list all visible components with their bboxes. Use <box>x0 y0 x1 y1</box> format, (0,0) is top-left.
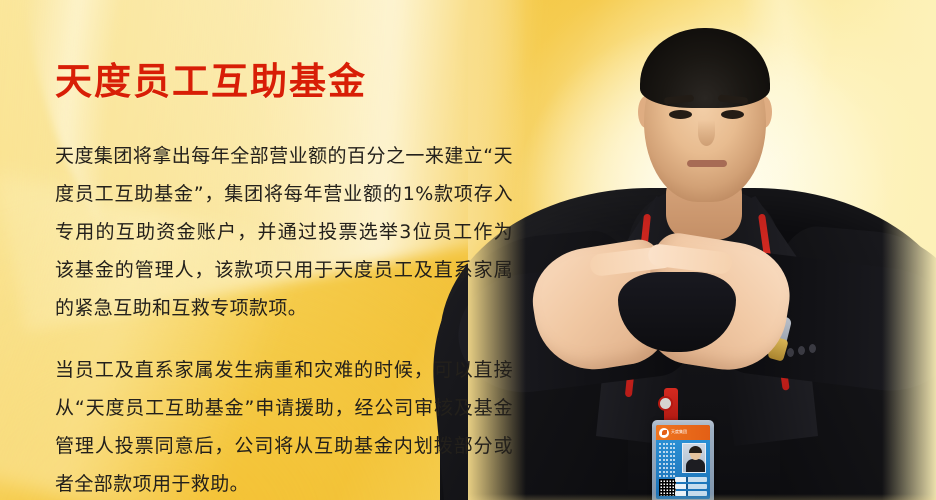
photo-edge-fade-bottom <box>468 494 936 500</box>
id-badge-card: 天度集团 <box>656 425 710 499</box>
lanyard-ring <box>658 396 673 411</box>
eye-left <box>669 110 692 119</box>
mouth <box>687 160 727 167</box>
id-badge-header: 天度集团 <box>656 425 710 440</box>
portrait-hair <box>689 446 702 453</box>
eye-right <box>721 110 744 119</box>
id-badge: 天度集团 <box>652 420 714 500</box>
portrait-body <box>686 459 705 472</box>
banner-copy: 天度员工互助基金 天度集团将拿出每年全部营业额的百分之一来建立“天度员工互助基金… <box>55 62 525 500</box>
id-badge-field-row <box>675 484 707 489</box>
page-title: 天度员工互助基金 <box>55 62 525 103</box>
photo-inner: 天度集团 <box>468 0 936 500</box>
id-badge-field-row <box>675 477 707 482</box>
id-badge-portrait <box>682 443 706 473</box>
nose <box>698 120 715 146</box>
body-paragraph-1: 天度集团将拿出每年全部营业额的百分之一来建立“天度员工互助基金”，集团将每年营业… <box>55 137 513 327</box>
sleeve-buttons-right <box>809 344 816 353</box>
body-paragraph-2: 当员工及直系家属发生病重和灾难的时候，可以直接从“天度员工互助基金”申请援助，经… <box>55 351 513 500</box>
employee-photo: 天度集团 <box>468 0 936 500</box>
promo-banner: 天度集团 <box>0 0 936 500</box>
company-logo-icon <box>659 428 669 438</box>
id-badge-body <box>656 440 710 499</box>
id-badge-brand: 天度集团 <box>671 430 687 435</box>
